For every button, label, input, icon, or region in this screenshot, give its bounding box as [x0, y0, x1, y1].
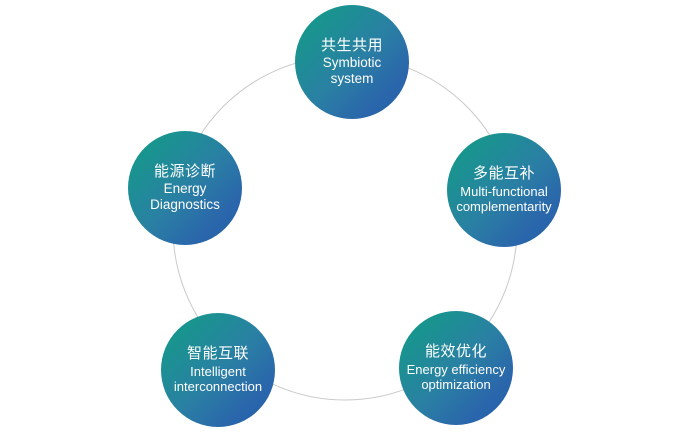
node-label-group: 多能互补 Multi-functional complementarity: [429, 165, 579, 214]
node-label-cn: 共生共用: [321, 37, 383, 55]
node-label-cn: 能源诊断: [154, 163, 216, 181]
node-label-group: 能效优化 Energy efficiency optimization: [381, 343, 531, 392]
node-label-en-line1: Multi-functional: [460, 184, 547, 199]
node-label-cn: 多能互补: [473, 165, 535, 183]
node-label-en-line2: optimization: [421, 377, 490, 392]
node-label-group: 共生共用 Symbiotic system: [277, 37, 427, 88]
node-energy-diagnostics[interactable]: 能源诊断 Energy Diagnostics: [128, 131, 242, 245]
node-label-cn: 智能互联: [187, 345, 249, 363]
node-label-en-line1: Energy efficiency: [407, 362, 506, 377]
node-label-en-line2: Diagnostics: [150, 197, 220, 213]
node-label-en-line1: Intelligent: [190, 364, 246, 379]
node-multi-functional-complementarity[interactable]: 多能互补 Multi-functional complementarity: [447, 133, 561, 247]
node-symbiotic-system[interactable]: 共生共用 Symbiotic system: [295, 5, 409, 119]
node-label-group: 能源诊断 Energy Diagnostics: [110, 163, 260, 214]
node-label-group: 智能互联 Intelligent interconnection: [143, 345, 293, 394]
node-label-en-line2: system: [331, 71, 374, 87]
node-label-en-line1: Symbiotic: [323, 55, 382, 71]
node-label-en-line1: Energy: [164, 181, 207, 197]
node-energy-efficiency-optimization[interactable]: 能效优化 Energy efficiency optimization: [399, 311, 513, 425]
node-intelligent-interconnection[interactable]: 智能互联 Intelligent interconnection: [161, 313, 275, 427]
diagram-canvas: 共生共用 Symbiotic system 多能互补 Multi-functio…: [0, 0, 681, 433]
node-label-cn: 能效优化: [425, 343, 487, 361]
node-label-en-line2: interconnection: [174, 379, 262, 394]
node-label-en-line2: complementarity: [456, 199, 551, 214]
